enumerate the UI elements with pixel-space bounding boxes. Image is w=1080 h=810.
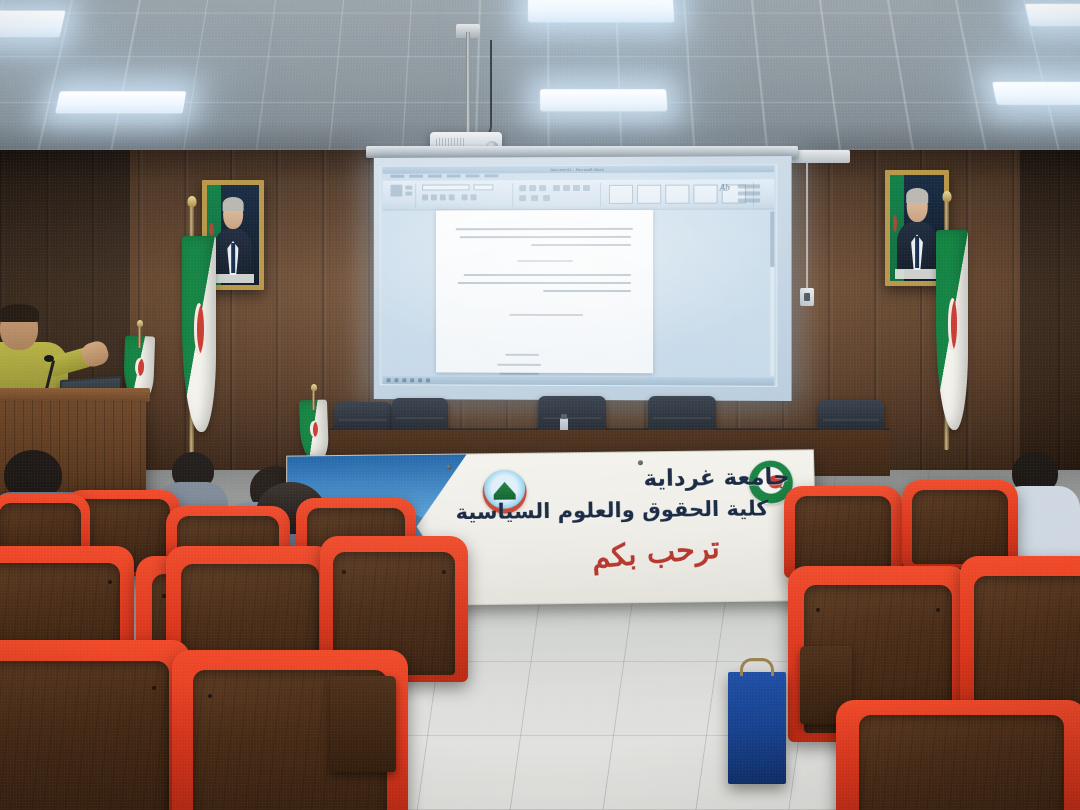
format-painter-icon[interactable] (405, 192, 412, 196)
bullets-icon[interactable] (519, 185, 526, 191)
select-icon[interactable] (738, 198, 760, 202)
status-icon[interactable] (394, 378, 398, 382)
strikethrough-icon[interactable] (449, 194, 455, 200)
text-color-icon[interactable] (462, 194, 468, 200)
seat-stud (816, 608, 820, 612)
ceiling-light-panel (992, 82, 1080, 106)
word-status-bar (383, 376, 775, 386)
banner-line-university: جامعة غرداية (643, 464, 790, 492)
seat-stud (208, 694, 212, 698)
document-text-line (458, 282, 631, 284)
word-document-page[interactable] (436, 210, 653, 373)
document-signature-line (505, 354, 539, 356)
ribbon-tab[interactable] (466, 174, 480, 177)
wall-cable (806, 163, 808, 293)
projection-screen: Document1 - Microsoft Word (374, 156, 792, 401)
auditorium-seat[interactable] (784, 486, 902, 578)
seat-stud (936, 608, 940, 612)
document-text-line (531, 244, 631, 246)
flag-pole-finial (942, 191, 951, 202)
air-conditioner-unit (790, 150, 850, 163)
underline-icon[interactable] (440, 194, 446, 200)
portrait-nameplate (212, 274, 254, 283)
bottle-cap (561, 414, 567, 419)
word-title-text: Document1 - Microsoft Word (550, 167, 603, 171)
document-text-line (460, 236, 631, 238)
ribbon-group-editing[interactable] (736, 182, 770, 206)
banner-line-welcome: ترحب بكم (590, 531, 721, 576)
desk-flag-pole-podium (138, 326, 141, 348)
highlight-icon[interactable] (471, 194, 477, 200)
align-center-icon[interactable] (563, 185, 570, 191)
algerian-flag-left (182, 236, 216, 432)
auditorium-seat-nearest[interactable] (836, 700, 1080, 810)
align-left-icon[interactable] (553, 185, 560, 191)
ceiling-light-panel (540, 90, 667, 112)
line-spacing-icon[interactable] (519, 195, 526, 201)
copy-icon[interactable] (405, 186, 412, 190)
multilevel-list-icon[interactable] (539, 185, 546, 191)
status-icon[interactable] (410, 378, 414, 382)
portrait-nameplate (895, 269, 938, 279)
document-text-line (456, 228, 633, 230)
word-application-window[interactable]: Document1 - Microsoft Word (380, 164, 778, 387)
seat-stud (442, 570, 446, 574)
portrait-tie (231, 243, 235, 273)
replace-icon[interactable] (738, 191, 760, 195)
word-scrollbar[interactable] (770, 212, 774, 376)
text-effects-ab-icon[interactable]: Ab (720, 183, 730, 192)
document-signature-line (499, 373, 539, 375)
style-gallery-item[interactable] (637, 185, 661, 204)
seat-stud (108, 580, 112, 584)
justify-icon[interactable] (583, 185, 590, 191)
ceiling-light-panel (528, 0, 675, 22)
word-ribbon[interactable]: Ab (383, 179, 775, 210)
style-gallery-item[interactable] (693, 185, 717, 204)
status-icon[interactable] (426, 378, 430, 382)
algerian-flag-right (936, 230, 968, 430)
document-heading-line (517, 260, 573, 262)
seat-armrest (330, 676, 396, 772)
auditorium-seat-nearest[interactable] (0, 640, 190, 810)
ceiling-light-panel (55, 91, 186, 113)
ribbon-tab[interactable] (484, 174, 498, 177)
scrollbar-thumb[interactable] (770, 212, 774, 268)
paste-icon[interactable] (391, 185, 403, 197)
ribbon-tab[interactable] (391, 175, 405, 178)
portrait-hair (906, 188, 928, 203)
document-text-line (543, 290, 631, 292)
ribbon-group-font[interactable] (418, 183, 513, 207)
seat-back (795, 496, 892, 573)
projector-cable (470, 40, 492, 140)
style-gallery-item[interactable] (609, 185, 633, 204)
seat-back (859, 715, 1064, 810)
auditorium-seat[interactable] (902, 480, 1018, 568)
italic-icon[interactable] (431, 194, 437, 200)
style-gallery-item[interactable] (665, 185, 689, 204)
bag-handle (740, 658, 774, 676)
seat-stud (152, 686, 156, 690)
blue-tote-bag (728, 672, 786, 784)
ribbon-tab[interactable] (409, 175, 423, 178)
wall-switch-box (800, 288, 814, 306)
seal-inner-emblem (494, 482, 516, 500)
status-icon[interactable] (402, 378, 406, 382)
podium-microphone (44, 355, 54, 362)
numbering-icon[interactable] (529, 185, 536, 191)
flag-pole-finial (187, 196, 196, 207)
document-closing-line (509, 314, 583, 316)
desk-flag-pole-stage (312, 390, 315, 410)
bold-icon[interactable] (422, 195, 428, 201)
status-icon[interactable] (387, 378, 391, 382)
portrait-hair (223, 197, 244, 211)
ribbon-group-paragraph[interactable] (515, 183, 601, 207)
banner-bolt (638, 460, 643, 465)
ribbon-tab[interactable] (428, 175, 442, 178)
banner-line-faculty: كلية الحقوق والعلوم السياسية (456, 496, 769, 524)
flag-pole-finial (311, 384, 317, 391)
font-size-box[interactable] (474, 184, 494, 190)
shading-icon[interactable] (531, 195, 538, 201)
ceiling-light-panel (0, 11, 66, 37)
document-signature-line (497, 364, 541, 366)
seat-stud (342, 570, 346, 574)
banner-bolt (447, 465, 452, 470)
speaker-hair (0, 304, 39, 322)
find-icon[interactable] (738, 184, 760, 188)
font-name-box[interactable] (422, 184, 469, 190)
align-right-icon[interactable] (573, 185, 580, 191)
ribbon-group-clipboard[interactable] (387, 184, 417, 208)
flag-pole-finial (137, 320, 143, 327)
seat-back (912, 490, 1007, 564)
borders-icon[interactable] (543, 195, 550, 201)
conference-hall-photo: Document1 - Microsoft Word (0, 0, 1080, 810)
portrait-tie (915, 236, 919, 268)
ribbon-group-styles[interactable] (605, 182, 754, 207)
ceiling-light-panel (1025, 4, 1080, 26)
document-text-line (464, 274, 631, 276)
status-icon[interactable] (418, 378, 422, 382)
seat-back (0, 661, 169, 810)
ribbon-tab[interactable] (447, 174, 461, 177)
